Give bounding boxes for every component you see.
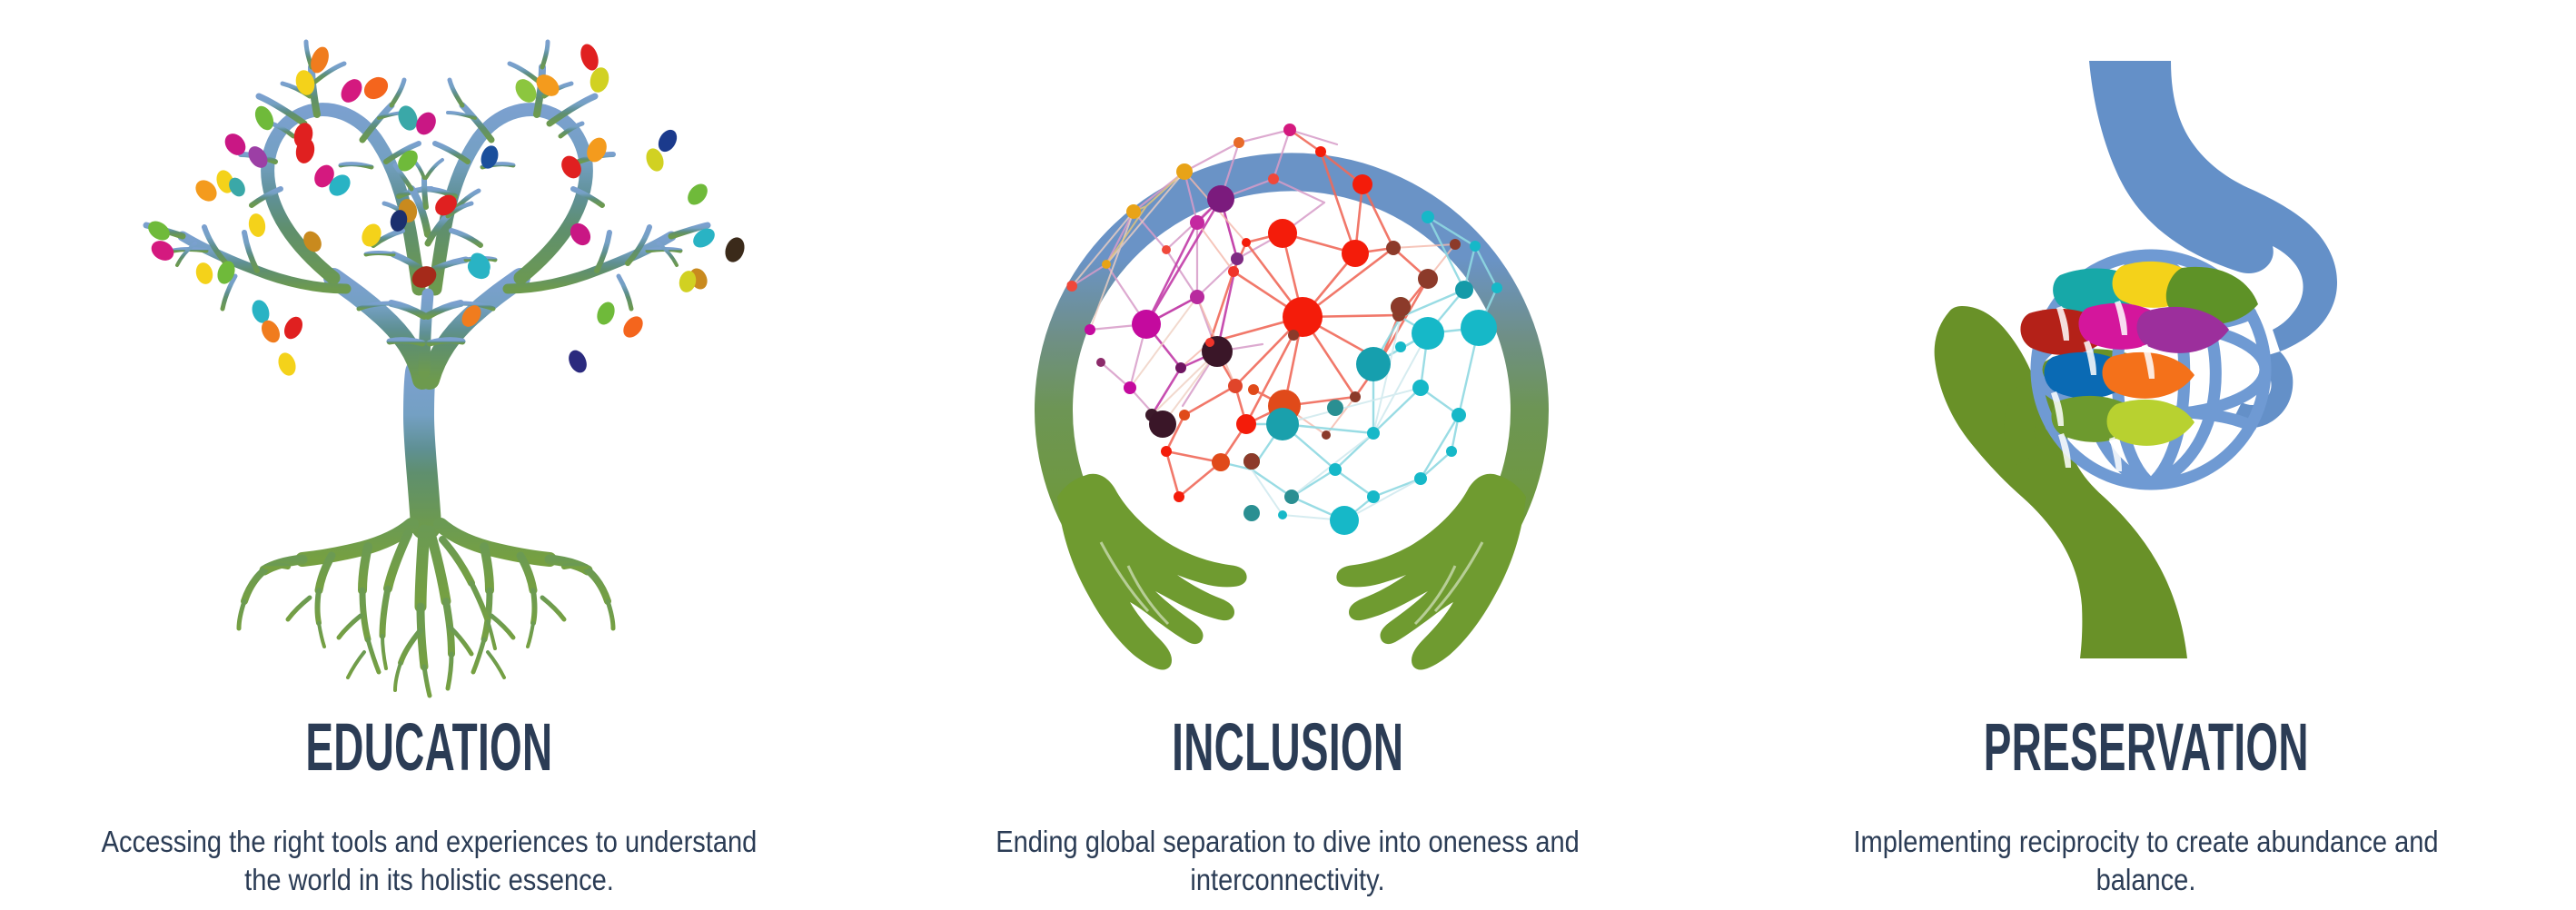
inclusion-illustration [858, 0, 1717, 717]
column-inclusion: INCLUSION Ending global separation to di… [858, 0, 1717, 910]
column-education: EDUCATION Accessing the right tools and … [0, 0, 858, 910]
junction-node-bottom [1243, 453, 1260, 470]
heading-inclusion: INCLUSION [1172, 714, 1403, 781]
left-hand [1057, 474, 1247, 670]
preservation-illustration [1717, 0, 2575, 717]
heading-preservation: PRESERVATION [1983, 714, 2308, 781]
hands-holding-network-globe-icon [974, 25, 1610, 706]
heading-education: EDUCATION [305, 714, 552, 781]
blurb-education: Accessing the right tools and experience… [52, 823, 807, 899]
junction-node-top [1391, 297, 1411, 317]
values-three-column-graphic: EDUCATION Accessing the right tools and … [0, 0, 2576, 910]
two-hands-globe-leaves-icon [1882, 41, 2427, 686]
education-illustration [0, 0, 858, 717]
blurb-preservation: Implementing reciprocity to create abund… [1769, 823, 2524, 899]
tree-leaves [144, 42, 748, 378]
column-preservation: PRESERVATION Implementing reciprocity to… [1717, 0, 2575, 910]
blurb-inclusion: Ending global separation to dive into on… [910, 823, 1666, 899]
tree-heart-roots-icon [99, 16, 753, 707]
